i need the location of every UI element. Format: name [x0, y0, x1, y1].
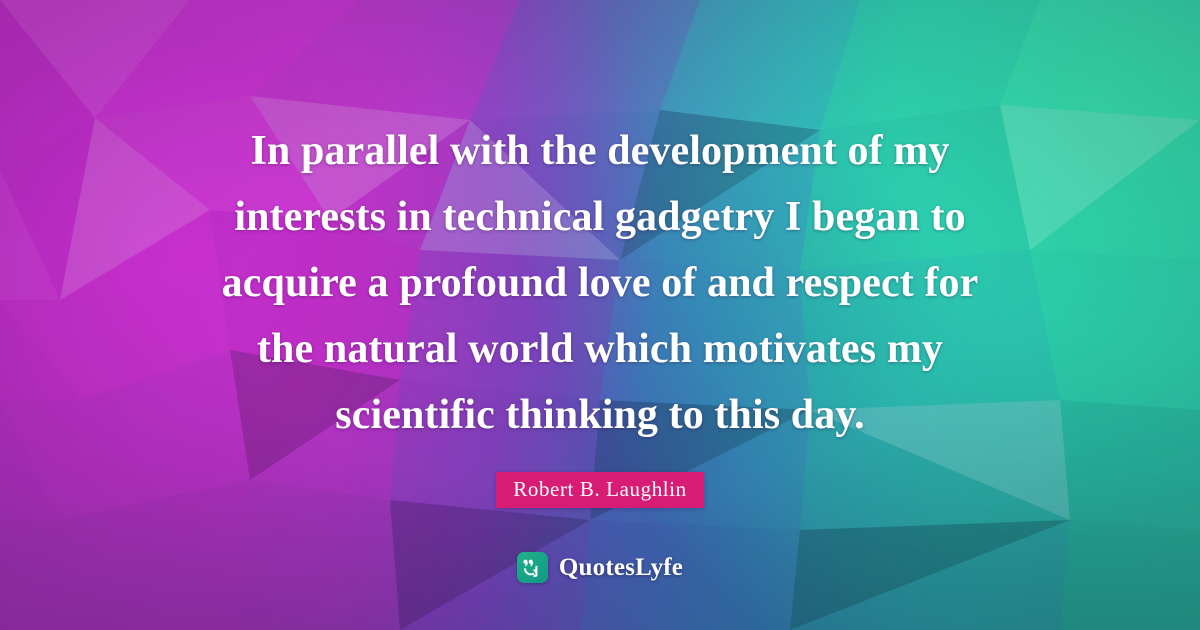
quote-line: interests in technical gadgetry I began …: [200, 184, 1000, 250]
quote-line: the natural world which motivates my: [200, 316, 1000, 382]
author-badge[interactable]: Robert B. Laughlin: [496, 472, 704, 508]
brand-name: QuotesLyfe: [559, 554, 683, 582]
quote-line: acquire a profound love of and respect f…: [200, 250, 1000, 316]
quote-line: In parallel with the development of my: [200, 118, 1000, 184]
quote-card: In parallel with the development of my i…: [0, 0, 1200, 630]
brand-logo[interactable]: QuotesLyfe: [0, 552, 1200, 583]
quote-line: scientific thinking to this day.: [200, 382, 1000, 448]
quote-text: In parallel with the development of my i…: [200, 118, 1000, 448]
card-content: In parallel with the development of my i…: [0, 0, 1200, 630]
quote-smiley-icon: [517, 552, 548, 583]
